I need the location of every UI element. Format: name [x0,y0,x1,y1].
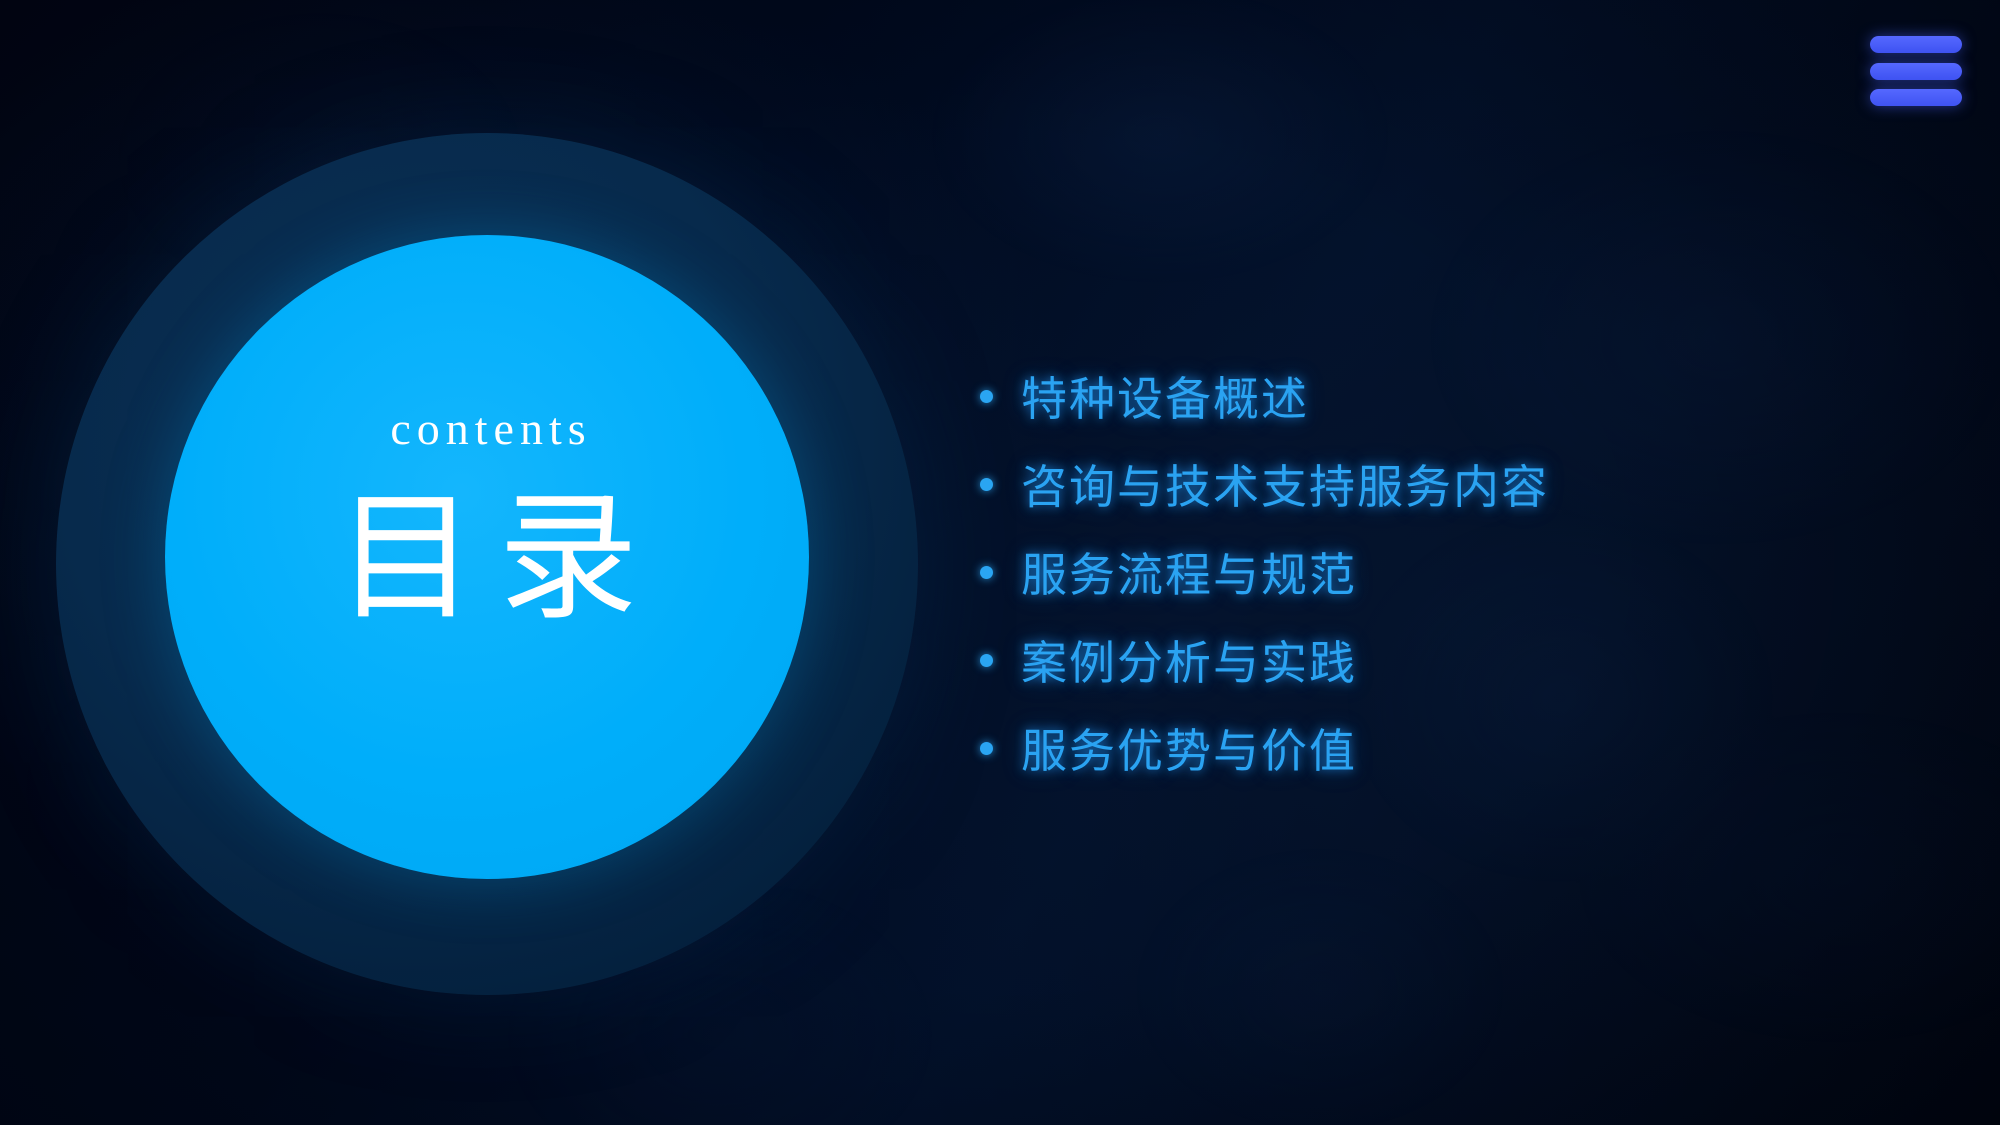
agenda-item-label: 服务优势与价值 [1021,715,1357,781]
agenda-item-label: 咨询与技术支持服务内容 [1021,451,1549,517]
agenda-item-1[interactable]: 特种设备概述 [980,352,1860,440]
bullet-dot-icon [980,566,993,579]
hamburger-menu-icon[interactable] [1870,36,1962,106]
agenda-list: 特种设备概述 咨询与技术支持服务内容 服务流程与规范 案例分析与实践 服务优势与… [980,352,1860,792]
agenda-item-2[interactable]: 咨询与技术支持服务内容 [980,440,1860,528]
contents-eyebrow-label: contents [390,406,591,452]
agenda-item-4[interactable]: 案例分析与实践 [980,616,1860,704]
agenda-item-label: 服务流程与规范 [1021,539,1357,605]
bullet-dot-icon [980,478,993,491]
contents-title: 目录 [336,490,660,630]
agenda-item-3[interactable]: 服务流程与规范 [980,528,1860,616]
menu-bar-bottom [1870,89,1962,106]
contents-badge-circle: contents 目录 [165,235,809,879]
menu-bar-top [1870,36,1962,53]
agenda-item-label: 案例分析与实践 [1021,627,1357,693]
agenda-item-label: 特种设备概述 [1021,363,1309,429]
menu-bar-middle [1870,63,1962,80]
presentation-slide: contents 目录 特种设备概述 咨询与技术支持服务内容 服务流程与规范 案… [0,0,2000,1125]
bullet-dot-icon [980,742,993,755]
bullet-dot-icon [980,654,993,667]
bullet-dot-icon [980,390,993,403]
agenda-item-5[interactable]: 服务优势与价值 [980,704,1860,792]
